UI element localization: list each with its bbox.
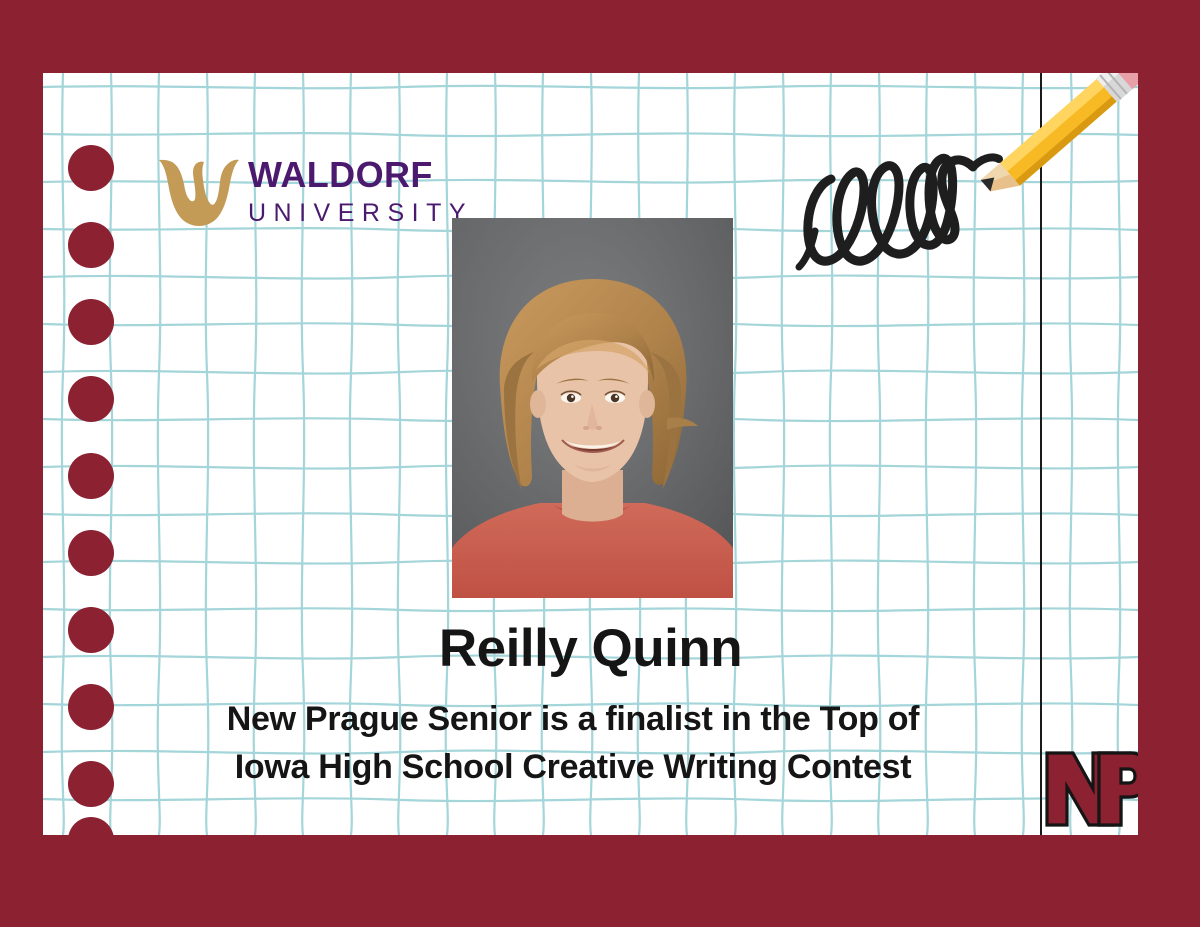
- punch-hole-9: [68, 761, 114, 807]
- waldorf-name-text: WALDORF: [248, 155, 473, 195]
- achievement-line-2: Iowa High School Creative Writing Contes…: [123, 743, 1023, 791]
- notebook-paper: WALDORF UNIVERSITY: [43, 73, 1138, 835]
- punch-hole-10: [68, 817, 114, 863]
- punch-hole-5: [68, 453, 114, 499]
- punch-hole-3: [68, 299, 114, 345]
- achievement-subheading: New Prague Senior is a finalist in the T…: [123, 695, 1023, 791]
- punch-hole-2: [68, 222, 114, 268]
- waldorf-w-bird-mark-icon: [156, 157, 242, 227]
- punch-hole-6: [68, 530, 114, 576]
- student-portrait-photo: [452, 218, 733, 598]
- punch-hole-7: [68, 607, 114, 653]
- poster-canvas: WALDORF UNIVERSITY: [0, 0, 1200, 927]
- achievement-line-1: New Prague Senior is a finalist in the T…: [123, 695, 1023, 743]
- np-monogram-logo[interactable]: [1043, 745, 1138, 833]
- punch-hole-4: [68, 376, 114, 422]
- waldorf-university-logo[interactable]: WALDORF UNIVERSITY: [156, 155, 486, 237]
- student-name-heading: Reilly Quinn: [43, 618, 1138, 679]
- waldorf-subtitle-text: UNIVERSITY: [248, 197, 473, 229]
- waldorf-wordmark: WALDORF UNIVERSITY: [248, 155, 473, 229]
- margin-rule-line: [1040, 73, 1042, 835]
- punch-hole-1: [68, 145, 114, 191]
- punch-hole-8: [68, 684, 114, 730]
